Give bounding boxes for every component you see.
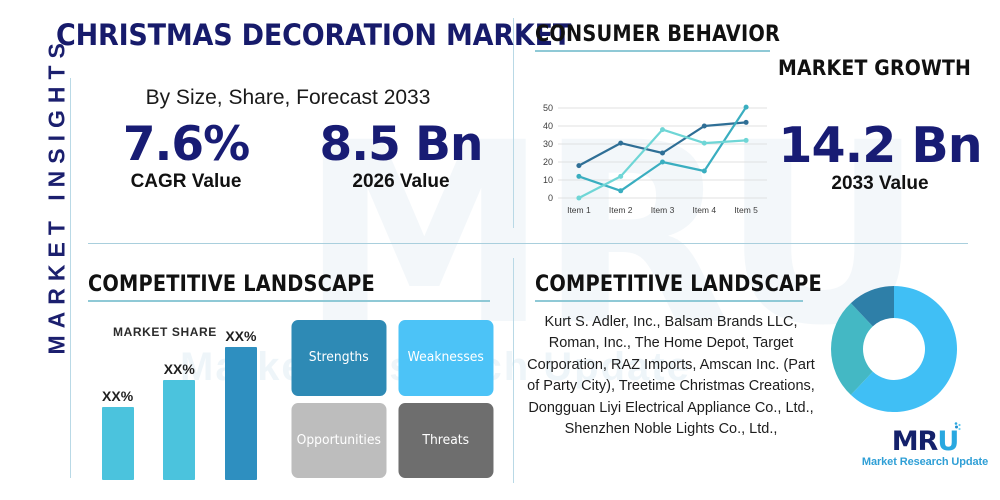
section-rule-competitive-right	[535, 300, 803, 302]
bar-label-3: XX%	[219, 328, 263, 344]
bar-3	[225, 347, 257, 480]
swot-cell-threats[interactable]: Threats	[398, 403, 493, 479]
logo-dots-icon	[952, 422, 962, 434]
logo-text-mr: MR	[892, 426, 938, 457]
vertical-divider-bottom	[513, 258, 514, 483]
svg-text:20: 20	[543, 157, 553, 167]
svg-text:40: 40	[543, 121, 553, 131]
stat-2026: 8.5 Bn 2026 Value	[306, 120, 496, 193]
stat-2033-label: 2033 Value	[770, 173, 990, 195]
stat-2033: 14.2 Bn 2033 Value	[770, 120, 990, 195]
competitive-share-donut	[828, 283, 960, 415]
horizontal-divider	[88, 243, 968, 244]
swot-cell-strengths[interactable]: Strengths	[291, 320, 386, 396]
market-share-bar-chart: XX%XX%XX%	[88, 318, 273, 480]
stat-cagr: 7.6% CAGR Value	[96, 120, 276, 193]
page-subtitle: By Size, Share, Forecast 2033	[88, 86, 488, 110]
swot-grid: StrengthsWeaknessesOpportunitiesThreats	[289, 320, 495, 478]
swot-cell-opportunities[interactable]: Opportunities	[291, 403, 386, 479]
bar-label-2: XX%	[157, 361, 201, 377]
section-rule-consumer-behavior	[535, 50, 770, 52]
bar-1	[102, 407, 134, 480]
company-list: Kurt S. Adler, Inc., Balsam Brands LLC, …	[520, 312, 822, 441]
svg-text:Item 2: Item 2	[609, 205, 633, 215]
svg-text:30: 30	[543, 139, 553, 149]
logo-tagline: Market Research Update	[855, 456, 995, 468]
section-heading-market-growth: MARKET GROWTH	[778, 56, 971, 80]
section-heading-competitive-landscape-right: COMPETITIVE LANDSCAPE	[535, 272, 822, 297]
market-insights-label: MARKET INSIGHTS	[44, 65, 71, 355]
svg-text:Item 4: Item 4	[692, 205, 716, 215]
svg-text:Item 5: Item 5	[734, 205, 758, 215]
page-title: CHRISTMAS DECORATION MARKET	[56, 18, 465, 52]
logo-wordmark: MRU	[892, 428, 959, 455]
stat-2033-value: 14.2 Bn	[770, 120, 990, 171]
bar-label-1: XX%	[95, 388, 139, 404]
section-heading-competitive-landscape-left: COMPETITIVE LANDSCAPE	[88, 272, 375, 297]
stat-cagr-value: 7.6%	[96, 120, 276, 169]
svg-text:10: 10	[543, 175, 553, 185]
section-rule-competitive-left	[88, 300, 490, 302]
bar-2	[163, 380, 195, 480]
consumer-behavior-line-chart: 01020304050Item 1Item 2Item 3Item 4Item …	[530, 100, 775, 220]
mru-logo: MRU Market Research Update	[855, 428, 995, 468]
svg-text:50: 50	[543, 103, 553, 113]
stat-cagr-label: CAGR Value	[96, 171, 276, 193]
section-heading-consumer-behavior: CONSUMER BEHAVIOR	[535, 22, 780, 47]
stat-2026-label: 2026 Value	[306, 171, 496, 193]
svg-text:Item 3: Item 3	[651, 205, 675, 215]
infographic-canvas: MRU Market Research Update MARKET INSIGH…	[0, 0, 1000, 500]
svg-text:0: 0	[548, 193, 553, 203]
market-share-title: MARKET SHARE	[113, 325, 217, 339]
swot-cell-weaknesses[interactable]: Weaknesses	[398, 320, 493, 396]
stat-2026-value: 8.5 Bn	[306, 120, 496, 169]
svg-text:Item 1: Item 1	[567, 205, 591, 215]
